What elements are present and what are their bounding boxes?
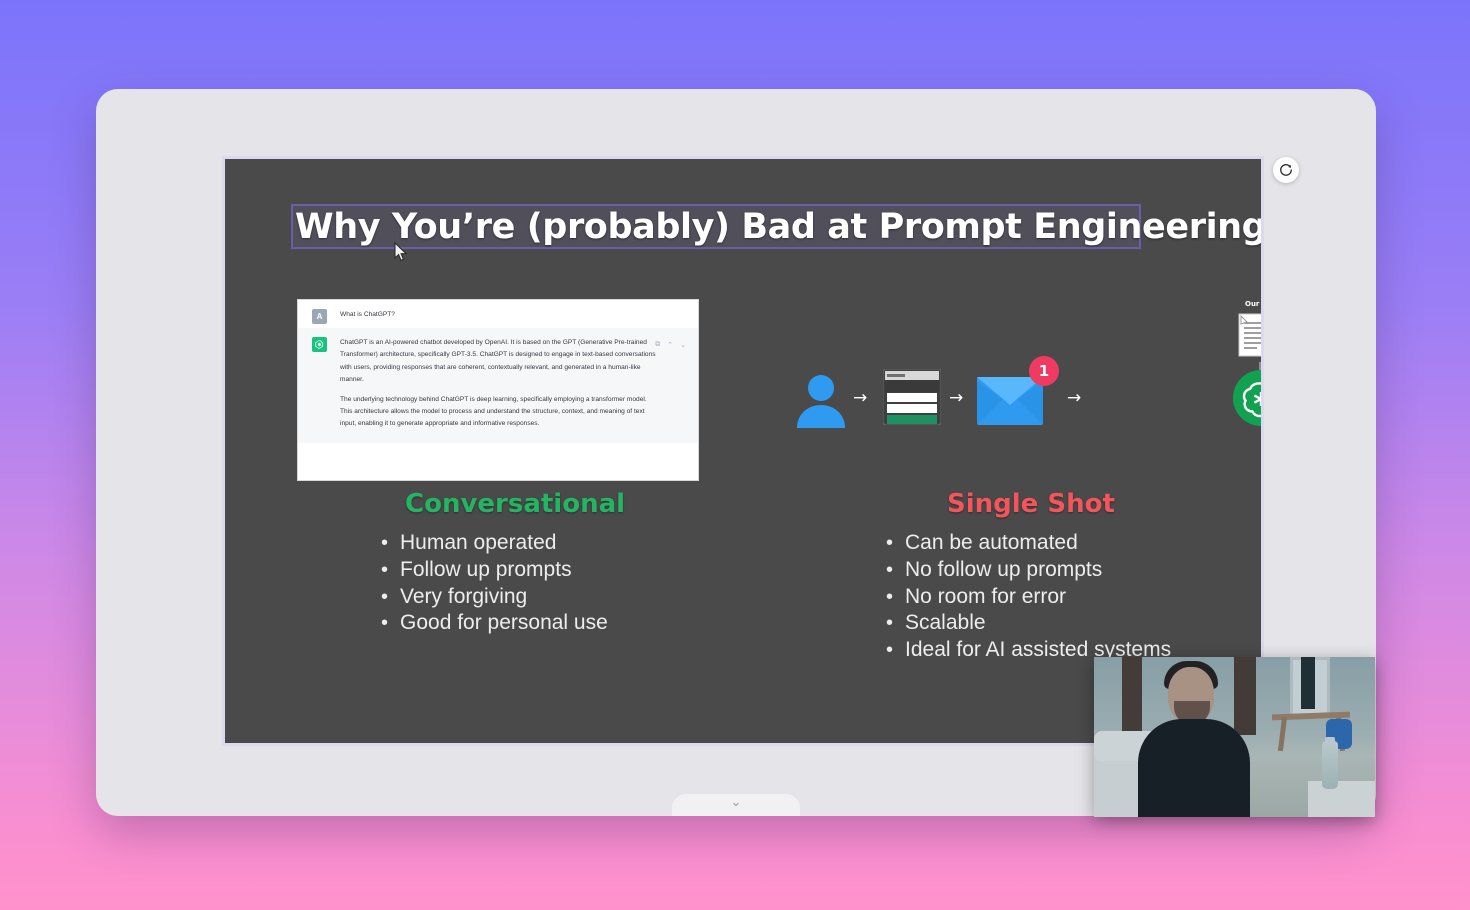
list-item: No follow up prompts [883,557,1171,584]
user-message-text: What is ChatGPT? [340,309,395,324]
assistant-paragraph-1: ChatGPT is an AI-powered chatbot develop… [340,337,658,387]
regenerate-icon [1279,163,1293,177]
prompt-documents-icon [1233,310,1264,366]
list-item: Can be automated [883,530,1171,557]
list-item: Human operated [378,530,608,557]
thumbs-up-icon: ⌃ [667,341,673,349]
assistant-message-text: ChatGPT is an AI-powered chatbot develop… [340,337,658,431]
copy-icon: ⧉ [655,341,660,349]
arrow-3-icon: → [1067,390,1081,407]
chevron-down-icon[interactable]: ⌄ [723,796,749,810]
arrow-2-icon: → [949,390,963,407]
thumbs-down-icon: ⌄ [680,341,686,349]
user-avatar: A [312,309,327,324]
page-title[interactable]: Why You’re (probably) Bad at Prompt Engi… [295,204,1139,249]
list-item: Follow up prompts [378,557,608,584]
presenter-webcam[interactable] [1094,657,1375,817]
assistant-paragraph-2: The underlying technology behind ChatGPT… [340,394,658,431]
list-item: Scalable [883,610,1171,637]
arrow-1-icon: → [853,390,867,407]
column-heading-conversational: Conversational [405,489,625,519]
chatgpt-avatar-icon [312,337,327,352]
chatgpt-logo-icon [1233,370,1264,426]
bullet-list-conversational: Human operated Follow up prompts Very fo… [378,530,608,637]
chat-message-user: A What is ChatGPT? [298,300,698,328]
list-item: No room for error [883,584,1171,611]
person-icon [795,372,847,428]
bullet-list-single-shot: Can be automated No follow up prompts No… [883,530,1171,664]
chatgpt-conversation-screenshot: A What is ChatGPT? ChatGPT is an AI-powe… [297,299,699,481]
list-item: Good for personal use [378,610,608,637]
form-window-icon [883,369,941,425]
column-heading-single-shot: Single Shot [947,489,1115,519]
email-unread-badge: 1 [1029,356,1059,386]
message-actions: ⧉ ⌃ ⌄ [655,341,686,349]
prompt-docs-label: Our Prompt [1245,300,1264,308]
regenerate-button[interactable] [1273,157,1299,183]
chat-message-assistant: ChatGPT is an AI-powered chatbot develop… [298,328,698,443]
email-triage-pipeline-diagram: → → 1 → Our Prompt [785,294,1225,479]
list-item: Very forgiving [378,584,608,611]
